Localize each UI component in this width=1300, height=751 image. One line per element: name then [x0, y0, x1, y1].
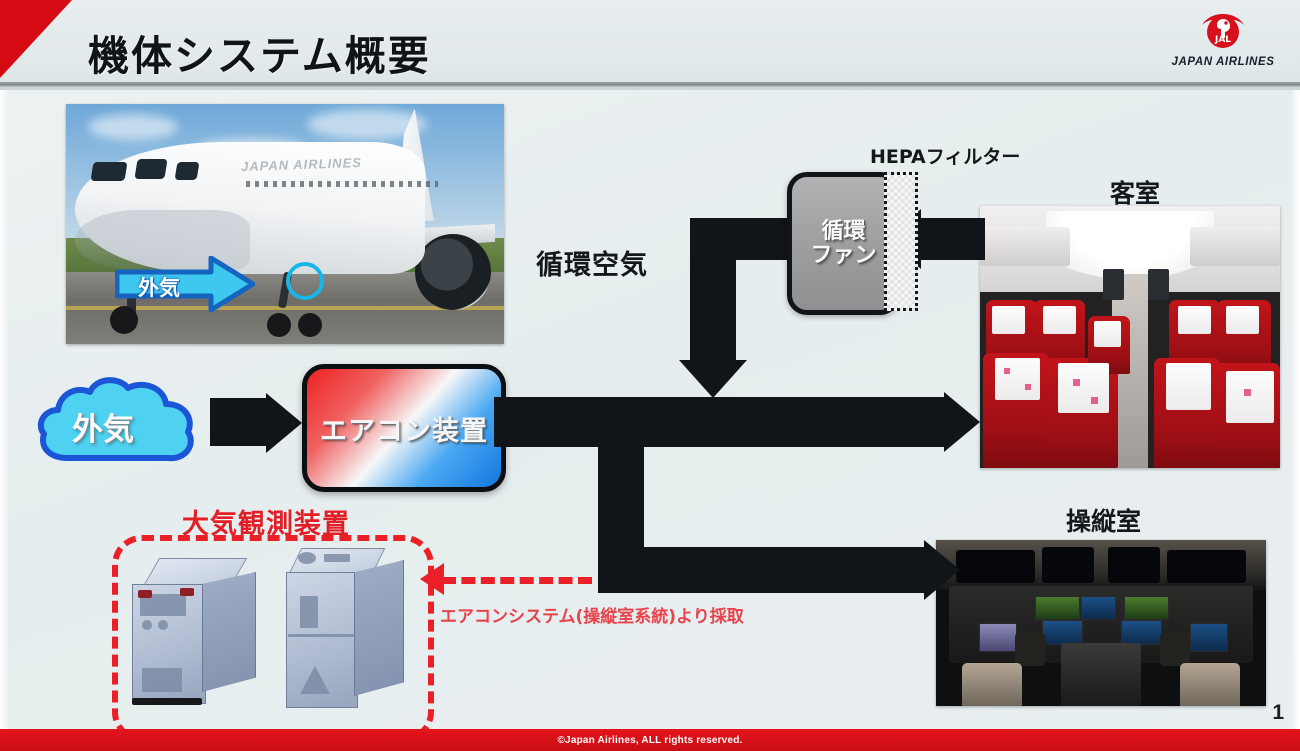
windshield-pane [1042, 547, 1095, 584]
device-red-handle [138, 590, 152, 598]
eicas-display [1081, 596, 1116, 620]
headrest-cover [992, 306, 1025, 335]
arrow-main-supply-head-cabin [944, 392, 980, 452]
nd-display [1121, 620, 1163, 645]
headrest-cover [1178, 306, 1211, 335]
circulation-fan-label-line2: ファン [810, 244, 876, 268]
ac-unit-label: エアコン装置 [320, 409, 488, 448]
efb-display [979, 623, 1017, 652]
headrest-pattern-dot [1091, 397, 1098, 404]
headrest-pattern-dot [1244, 389, 1251, 396]
arrow-recirc-down-head [679, 360, 747, 398]
overhead-bin [1190, 227, 1280, 266]
device-vent [300, 596, 318, 628]
pfd-display [1124, 596, 1169, 620]
circulating-air-label: 循環空気 [536, 243, 648, 282]
device-label-plate [142, 668, 182, 692]
header-divider-shadow [0, 87, 1300, 90]
control-column [1015, 633, 1045, 666]
cockpit-window [174, 162, 199, 180]
device-seam [288, 634, 354, 637]
cabin-label: 客室 [1110, 174, 1160, 210]
center-pedestal [1061, 643, 1140, 706]
cockpit-photo [936, 540, 1266, 706]
cabin-window-row [246, 181, 439, 187]
cockpit-window [91, 162, 128, 181]
sampling-dashed-line [442, 577, 592, 584]
circulation-fan-label-line1: 循環 [821, 220, 865, 244]
headrest-cover [1226, 306, 1259, 335]
engine-inlet-highlight-circle [286, 262, 324, 300]
hepa-filter-box [884, 172, 918, 311]
arrow-cloud-to-ac [210, 398, 268, 446]
device-unit-right [286, 548, 416, 720]
page-title: 機体システム概要 [88, 22, 431, 82]
device-fan-port [298, 552, 316, 564]
headrest-pattern-dot [1025, 384, 1031, 390]
pfd-display [1035, 596, 1080, 620]
slide-header: 機体システム概要 JAL JAPAN AIRLINES [0, 0, 1300, 86]
main-wheel [298, 313, 322, 337]
slide-footer: ©Japan Airlines, ALL rights reserved. [0, 729, 1300, 751]
cockpit-label: 操縦室 [1066, 502, 1141, 538]
cloud-puff [88, 114, 178, 140]
device-port [142, 620, 152, 630]
windshield-pane [1167, 550, 1246, 583]
left-page-edge [0, 90, 8, 730]
control-column [1160, 633, 1190, 666]
cabin-photo [980, 206, 1280, 468]
arrow-recirc-down [690, 218, 736, 368]
outside-air-arrow-label: 外気 [138, 272, 180, 302]
nd-display [1042, 620, 1084, 645]
aircraft-engine [415, 234, 491, 310]
device-base-rail [132, 698, 202, 705]
cabin-ceiling-vault [1046, 211, 1214, 279]
corner-accent-triangle [0, 0, 72, 78]
headrest-cover [995, 358, 1040, 400]
device-unit-left [132, 558, 272, 718]
device-side-face [354, 560, 404, 696]
headrest-pattern-dot [1073, 379, 1080, 386]
device-side-face [202, 572, 256, 692]
copyright-text: ©Japan Airlines, ALL rights reserved. [557, 735, 742, 746]
headrest-cover [1043, 306, 1076, 335]
headrest-cover [1226, 371, 1274, 423]
svg-text:JAL: JAL [1214, 35, 1231, 45]
arrow-cockpit-head [924, 540, 960, 600]
jal-logo: JAL JAPAN AIRLINES [1164, 9, 1282, 77]
right-page-edge [1292, 90, 1300, 730]
hepa-filter-label: HEPAフィルター [870, 142, 1020, 169]
arrow-branch-to-cockpit [598, 547, 930, 593]
windshield-pane [1108, 547, 1161, 584]
pilot-seat [962, 663, 1021, 706]
device-red-handle [180, 588, 194, 596]
arrow-main-supply-trunk [494, 397, 950, 447]
headrest-cover [1058, 363, 1109, 413]
cabin-divider [1148, 269, 1169, 300]
device-port [158, 620, 168, 630]
headrest-cover [1094, 321, 1121, 347]
headrest-cover [1166, 363, 1211, 410]
page-number: 1 [1272, 701, 1284, 725]
outside-air-arrow-icon [115, 256, 255, 312]
device-top-bracket [324, 554, 350, 562]
pilot-seat [1180, 663, 1239, 706]
cabin-divider [1103, 269, 1124, 300]
sampling-arrow-head [420, 563, 444, 595]
outside-air-cloud-label: 外気 [72, 404, 134, 449]
headrest-pattern-dot [1004, 368, 1010, 374]
cockpit-window [134, 159, 167, 179]
arrow-cloud-to-ac-head [266, 393, 302, 453]
slide-root: 機体システム概要 JAL JAPAN AIRLINES [0, 0, 1300, 751]
windshield-pane [956, 550, 1035, 583]
jal-wordmark: JAPAN AIRLINES [1172, 56, 1275, 68]
tsurumaru-crane-icon: JAL [1196, 9, 1250, 55]
sampling-note-label: エアコンシステム(操縦室系統)より採取 [440, 602, 744, 627]
efb-display [1190, 623, 1228, 652]
overhead-bin [980, 227, 1070, 266]
air-conditioning-unit: エアコン装置 [302, 364, 506, 492]
